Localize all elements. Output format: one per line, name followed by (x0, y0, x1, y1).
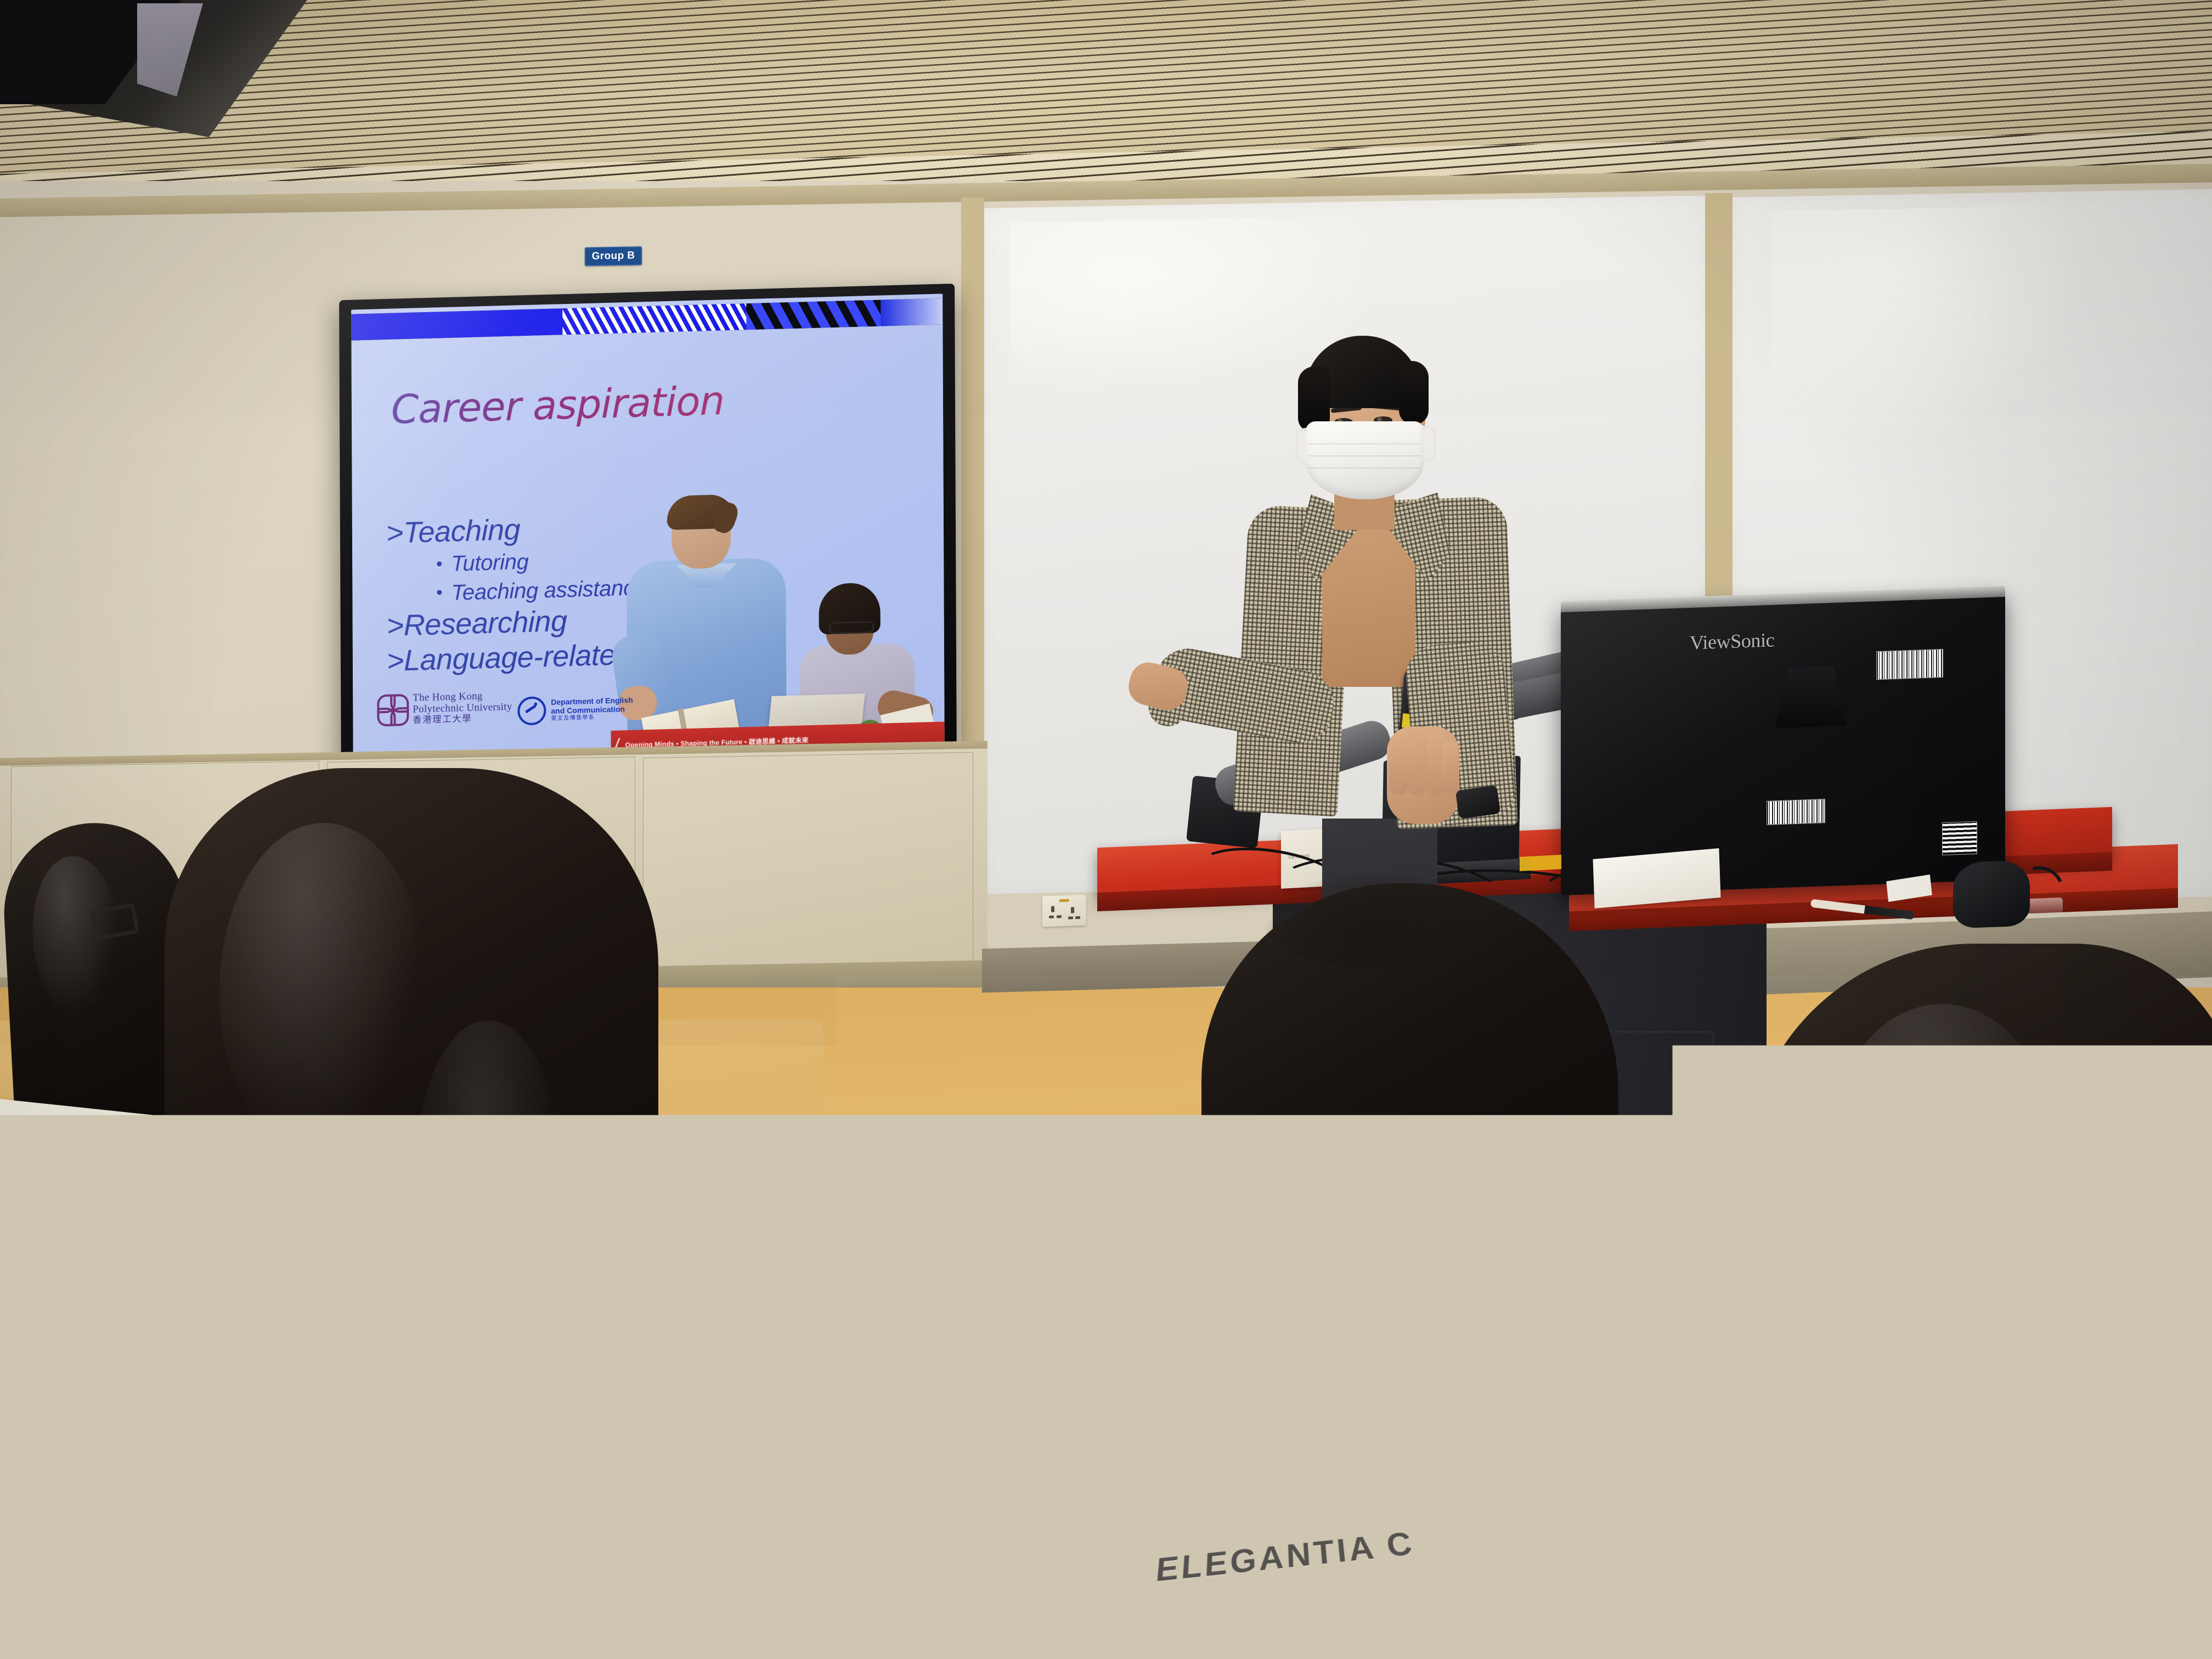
student-c-hair-tuft (1262, 870, 1492, 968)
department-logo: Department of English and Communication … (517, 694, 633, 726)
presenter-hair-side-right (1399, 361, 1429, 425)
table-leg (60, 1481, 99, 1659)
table-leg (10, 1514, 43, 1659)
wall-mounted-tv[interactable]: Career aspiration >Teaching Tutoring Tea… (339, 284, 957, 783)
department-logo-text: Department of English and Communication … (551, 696, 633, 722)
student-b-hair-highlight (219, 823, 428, 1163)
polyu-emblem-icon (377, 694, 407, 724)
presenter-wristwatch (1455, 785, 1500, 819)
student-d-hair-highlight (1827, 1004, 2057, 1311)
presenter-face-mask (1306, 421, 1424, 499)
polyu-logo-text: The Hong Kong Polytechnic University 香港理… (413, 690, 512, 725)
slide-header-stripes (562, 303, 754, 335)
student-b-hair (165, 768, 658, 1481)
power-socket[interactable] (1042, 895, 1086, 927)
group-b-sign: Group B (585, 246, 642, 266)
classroom-scene: Group B Career aspiration >Teaching Tuto… (0, 0, 2212, 1659)
asset-barcode-label (1767, 799, 1825, 825)
asset-barcode-label (1876, 649, 1943, 680)
slide-header-fade (881, 298, 943, 326)
student-b-hair-highlight-2 (417, 1020, 560, 1306)
slide-header-chevrons (746, 300, 889, 330)
department-emblem-icon (517, 696, 546, 725)
cabinet-door[interactable] (643, 752, 973, 970)
whiteboard-glare-right (1772, 206, 2079, 442)
slide-photo-woman-glasses (829, 621, 874, 634)
tv-screen: Career aspiration >Teaching Tutoring Tea… (351, 294, 945, 770)
slide-stock-photo (610, 488, 945, 763)
qr-asset-label (1942, 821, 1977, 855)
phone-case-emblem (91, 1175, 148, 1208)
viewsonic-brand-text: ViewSonic (1690, 628, 1774, 654)
polyu-logo: The Hong Kong Polytechnic University 香港理… (377, 690, 512, 726)
department-name-chinese: 英文及傳意學系 (551, 714, 633, 722)
black-camera-device[interactable] (1953, 860, 2030, 929)
viewsonic-monitor[interactable] (1561, 589, 2005, 895)
slide-title: Career aspiration (391, 377, 724, 432)
presenter-hand-right (1387, 726, 1459, 824)
